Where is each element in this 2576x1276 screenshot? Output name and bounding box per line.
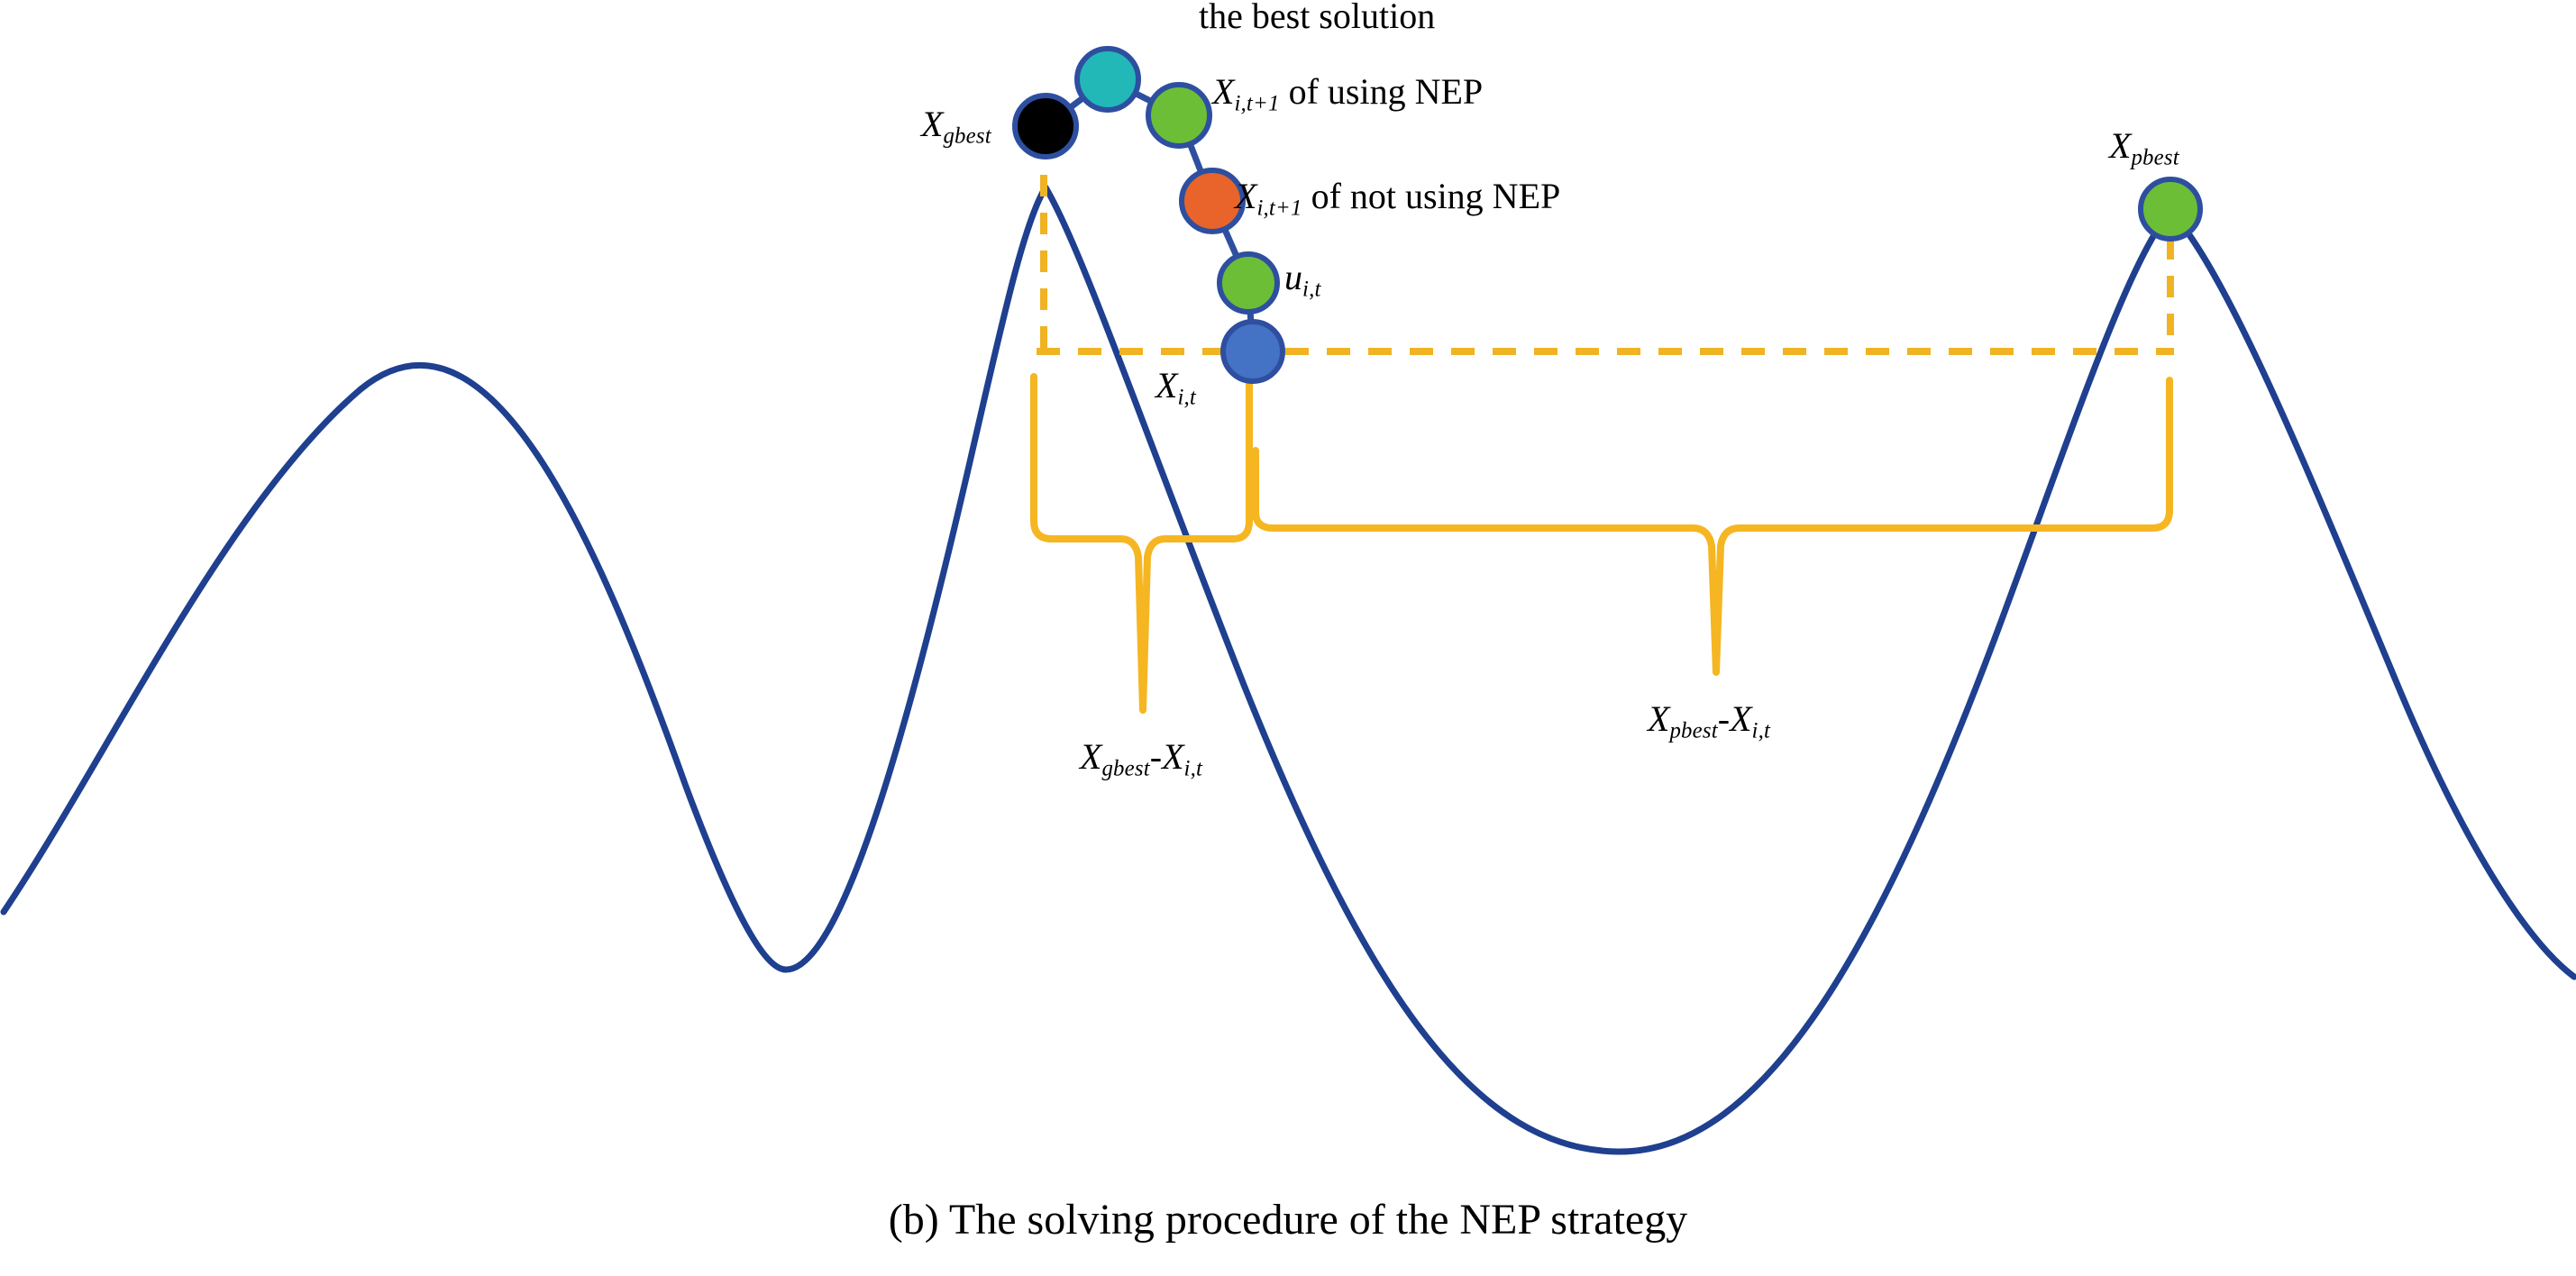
figure-caption: (b) The solving procedure of the NEP str…: [0, 1199, 2576, 1242]
node-x-it: [1223, 322, 1283, 381]
objective-landscape-curve: [4, 187, 2574, 1152]
label-x-gbest: Xgbest: [921, 106, 991, 148]
label-gbest-minus-xit: Xgbest-Xi,t: [1080, 739, 1202, 780]
label-x-it1-not-using-nep: Xi,t+1 of not using NEP: [1235, 178, 1560, 220]
pbest-distance-brace: [1256, 380, 2170, 672]
node-x-gbest: [1015, 96, 1076, 157]
node-u-it: [1219, 254, 1277, 312]
node-x-it1-not-using-nep: [1182, 170, 1243, 232]
label-pbest-minus-xit: Xpbest-Xi,t: [1648, 701, 1770, 743]
label-x-it1-using-nep: Xi,t+1 of using NEP: [1212, 74, 1483, 115]
label-best-solution: the best solution: [1199, 0, 1435, 34]
label-x-it: Xi,t: [1156, 368, 1196, 409]
node-x-pbest: [2141, 179, 2200, 239]
label-u-it: ui,t: [1284, 260, 1321, 301]
node-best-solution-teal: [1077, 49, 1138, 110]
node-x-it1-using-nep: [1148, 85, 1210, 146]
marker-nodes-group: [1015, 49, 2200, 381]
label-x-pbest: Xpbest: [2109, 128, 2179, 169]
